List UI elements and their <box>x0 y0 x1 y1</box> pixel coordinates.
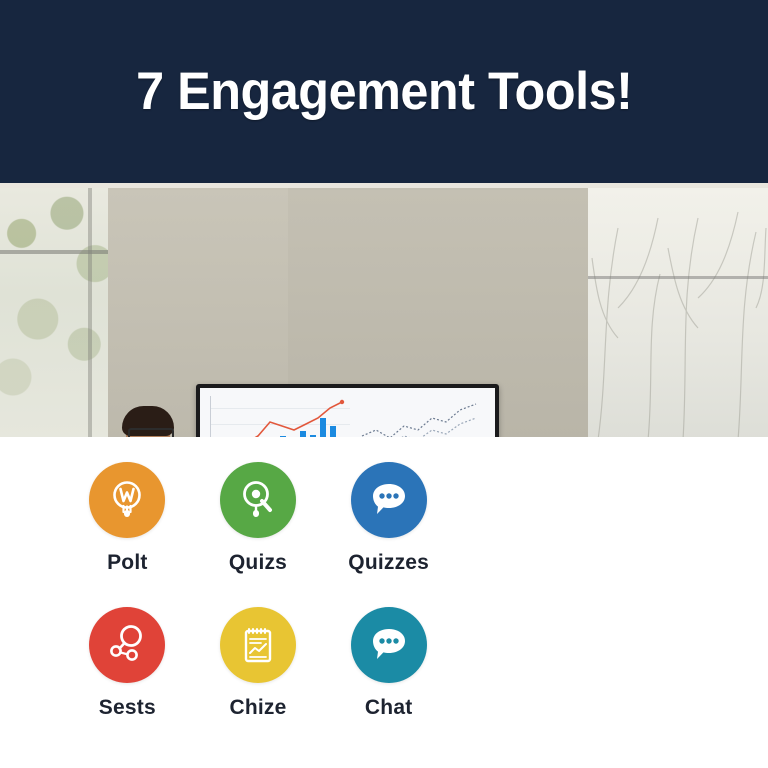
tool-item-chat[interactable]: Chat <box>323 607 454 752</box>
scatter-dotted-chart <box>358 396 488 440</box>
tool-label: Chat <box>365 696 412 720</box>
presenter <box>96 410 212 440</box>
tool-label: Quizs <box>229 551 287 575</box>
tool-item-sests[interactable]: Sests <box>62 607 193 752</box>
tool-item-quizzes[interactable]: Quizzes <box>323 462 454 607</box>
speech-bubble-icon <box>351 462 427 538</box>
bare-branches-icon <box>588 188 768 440</box>
lightbulb-icon <box>89 462 165 538</box>
tools-grid: Polt Quizs <box>62 462 454 752</box>
wall-display <box>196 384 499 440</box>
tool-label: Quizzes <box>348 551 429 575</box>
tool-item-chize[interactable]: Chize <box>193 607 324 752</box>
window-mullion-vertical <box>88 188 92 440</box>
tool-label: Polt <box>107 551 147 575</box>
poster-root: 7 Engagement Tools! <box>0 0 768 768</box>
notepad-chart-icon <box>220 607 296 683</box>
tools-section: Polt Quizs <box>0 440 768 768</box>
window-frame-right <box>588 276 768 279</box>
tool-item-polt[interactable]: Polt <box>62 462 193 607</box>
trend-line <box>210 396 350 440</box>
network-nodes-icon <box>89 607 165 683</box>
page-title: 7 Engagement Tools! <box>136 61 632 122</box>
bar-trend-chart <box>210 396 350 440</box>
tool-label: Sests <box>99 696 156 720</box>
speech-bubble-icon <box>351 607 427 683</box>
magnifier-icon <box>220 462 296 538</box>
wall-display-screen <box>200 388 495 440</box>
tool-item-quizs[interactable]: Quizs <box>193 462 324 607</box>
header-banner: 7 Engagement Tools! <box>0 0 768 183</box>
tool-label: Chize <box>229 696 286 720</box>
business-presentation-photo <box>0 188 768 440</box>
